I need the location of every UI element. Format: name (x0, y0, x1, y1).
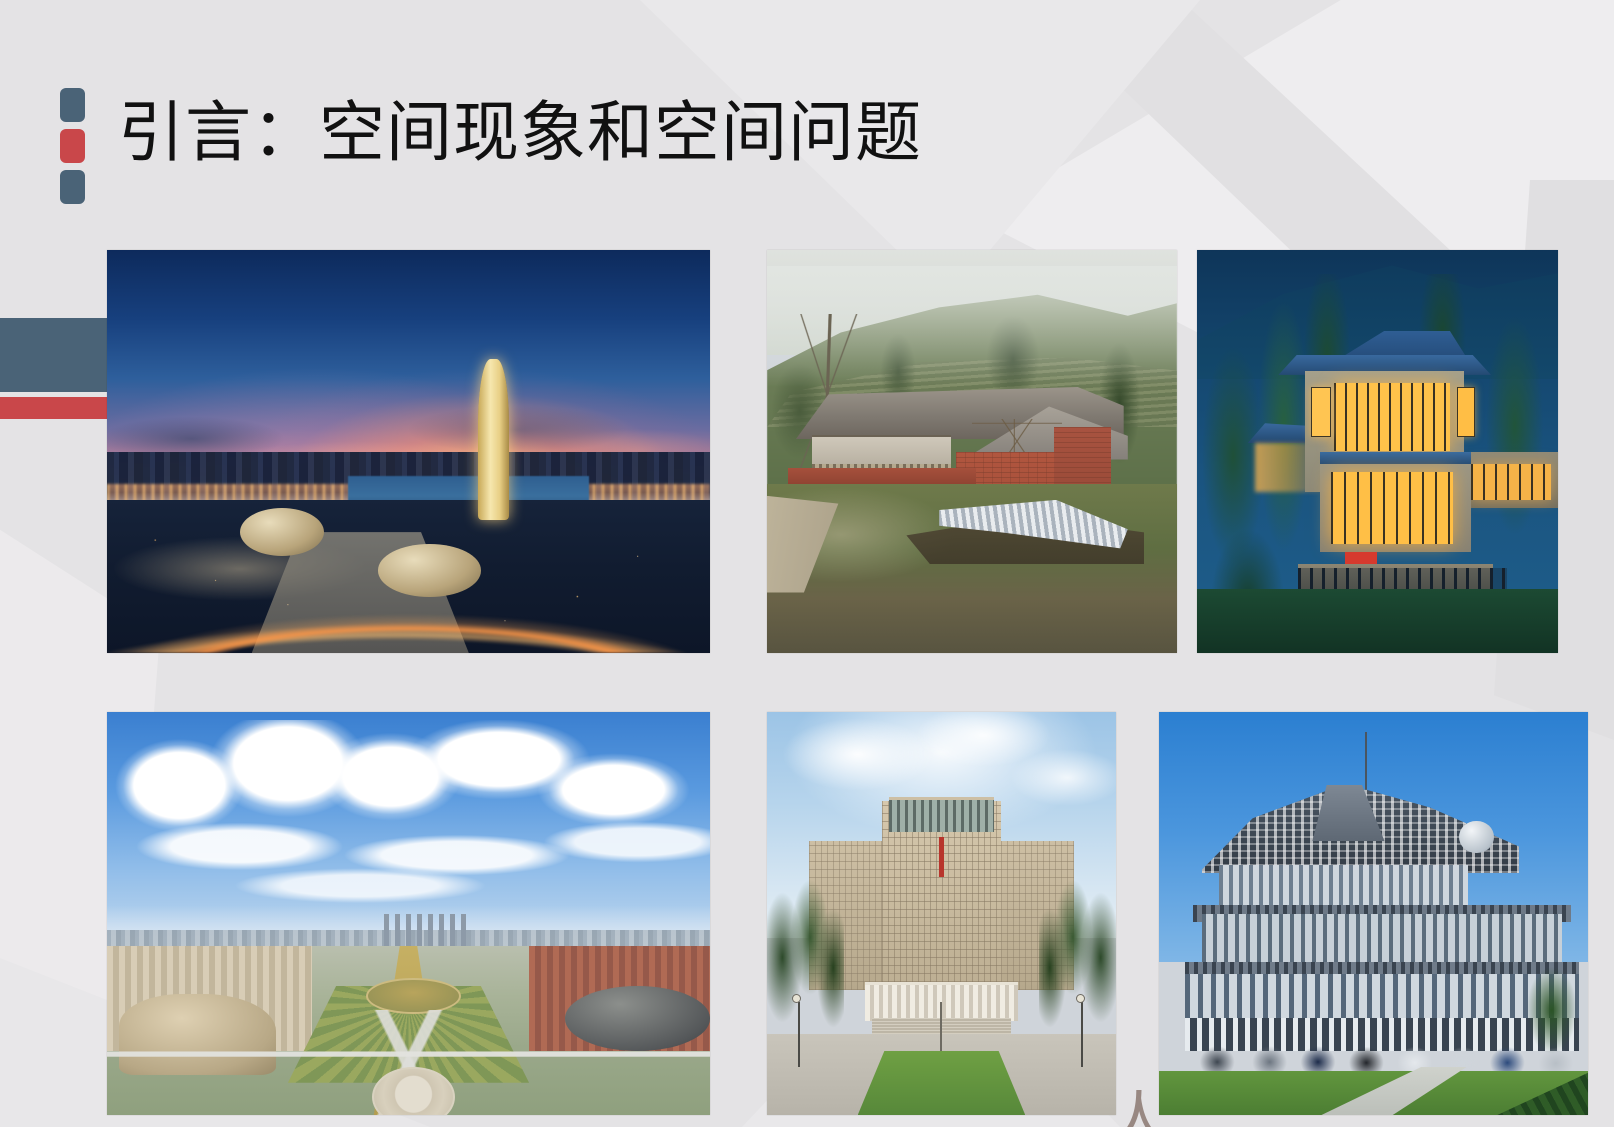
left-red-bar (0, 397, 108, 419)
photo-new-city-aerial[interactable] (107, 712, 710, 1115)
villa-side-window-left (1311, 387, 1331, 437)
photo-university-main-building[interactable] (767, 712, 1116, 1115)
photo-rural-villa-dusk-scene (1197, 250, 1558, 653)
admin-dome (1459, 821, 1493, 853)
photo-city-night[interactable] (107, 250, 710, 653)
photo-city-night-scene (107, 250, 710, 653)
campus-left-trees (767, 873, 844, 1042)
villa-foreground-foliage (1197, 589, 1558, 653)
villa-red-mat (1345, 552, 1377, 564)
campus-central-lawn (858, 1051, 1026, 1115)
campus-flagpole (940, 1002, 942, 1058)
villa-side-window-right (1457, 387, 1475, 437)
villa-upper-glazing (1334, 383, 1450, 452)
bullet-top-icon (60, 88, 85, 122)
admin-antenna-mast (1365, 732, 1367, 796)
campus-lamp-post-right (1081, 1002, 1083, 1066)
villa-right-wing-glow (1471, 464, 1550, 500)
night-street-lights (107, 250, 710, 653)
campus-top-glazed-storey (889, 797, 994, 832)
title-bullet-decoration (60, 88, 85, 204)
photo-rural-villa-dusk[interactable] (1197, 250, 1558, 653)
campus-flag (939, 837, 943, 877)
villa-terrace-fence (1298, 568, 1507, 588)
photo-new-city-aerial-scene (107, 712, 710, 1115)
city-oval-garden (366, 978, 460, 1014)
photo-rural-brick-house-scene (767, 250, 1177, 653)
bullet-bottom-icon (60, 170, 85, 204)
campus-lamp-globe-right (1076, 994, 1085, 1003)
photo-administrative-building-scene (1159, 712, 1588, 1115)
photo-rural-brick-house[interactable] (767, 250, 1177, 653)
campus-right-trees (1039, 873, 1116, 1042)
photo-administrative-building[interactable] (1159, 712, 1588, 1115)
page-title: 引言：空间现象和空间问题 (118, 92, 922, 173)
left-slate-block (0, 318, 108, 392)
villa-lower-glazing (1331, 472, 1454, 545)
bullet-middle-icon (60, 129, 85, 163)
campus-lamp-post-left (798, 1002, 800, 1066)
photo-university-main-building-scene (767, 712, 1116, 1115)
